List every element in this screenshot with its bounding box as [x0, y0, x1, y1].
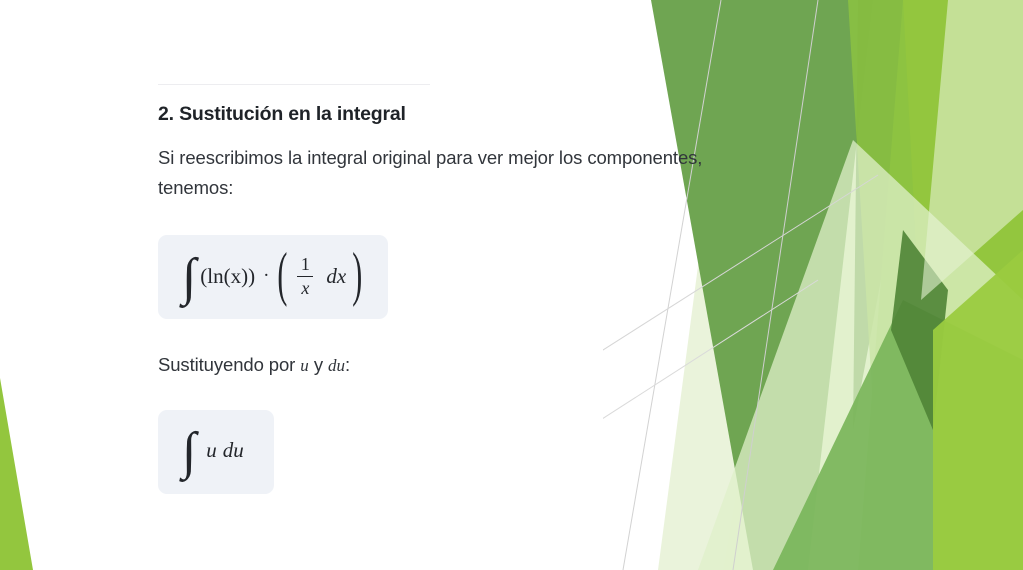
slide-canvas: 2. Sustitución en la integral Si reescri…	[0, 0, 1023, 570]
substitution-variable-u: u	[300, 356, 309, 375]
formula-box-substituted-integral: ∫ u du	[158, 410, 274, 494]
intro-paragraph: Si reescribimos la integral original par…	[158, 143, 748, 203]
decor-shape-green-mid-lower	[773, 300, 1023, 570]
formula-substituted-integral: ∫ u du	[182, 432, 244, 469]
substitution-intro-suffix: :	[345, 354, 350, 375]
integral-sign-icon: ∫	[182, 259, 200, 296]
formula-original-integral: ∫ (ln(x)) · ( 1 x dx )	[182, 255, 362, 299]
substitution-intro-paragraph: Sustituyendo por u y du:	[158, 350, 748, 380]
decor-shape-green-bright-right	[858, 0, 1023, 570]
fraction-denominator: x	[298, 279, 312, 298]
decor-shape-pale-right-edge	[921, 0, 1023, 300]
formula-differential-du: du	[223, 438, 244, 463]
decor-shape-pale-large	[723, 0, 903, 570]
decorative-graphic-left	[0, 0, 120, 570]
formula-fraction-one-over-x: 1 x	[295, 255, 315, 299]
formula-paren-close: )	[352, 242, 362, 310]
decor-shape-green-dark-accent	[891, 230, 948, 430]
decor-shape-green-bright-sliver	[848, 0, 933, 570]
slide-content: 2. Sustitución en la integral Si reescri…	[158, 84, 748, 494]
substitution-intro-prefix: Sustituyendo por	[158, 354, 300, 375]
substitution-variable-du: du	[328, 356, 345, 375]
decor-shape-lime-bottom-right	[933, 250, 1023, 570]
formula-integrand-ln: (ln(x))	[200, 264, 255, 289]
integral-sign-icon: ∫	[182, 433, 200, 470]
formula-box-original-integral: ∫ (ln(x)) · ( 1 x dx )	[158, 235, 388, 319]
formula-multiplication-operator: ·	[255, 265, 277, 287]
fraction-bar	[297, 276, 313, 277]
formula-paren-open: (	[277, 242, 287, 310]
formula-differential-dx: dx	[326, 264, 346, 289]
decor-shape-green-dark-wedge	[853, 0, 933, 430]
content-divider	[158, 84, 430, 85]
section-heading: 2. Sustitución en la integral	[158, 102, 748, 127]
substitution-intro-conjunction: y	[309, 354, 328, 375]
fraction-numerator: 1	[298, 255, 313, 274]
formula-variable-u: u	[206, 438, 217, 463]
